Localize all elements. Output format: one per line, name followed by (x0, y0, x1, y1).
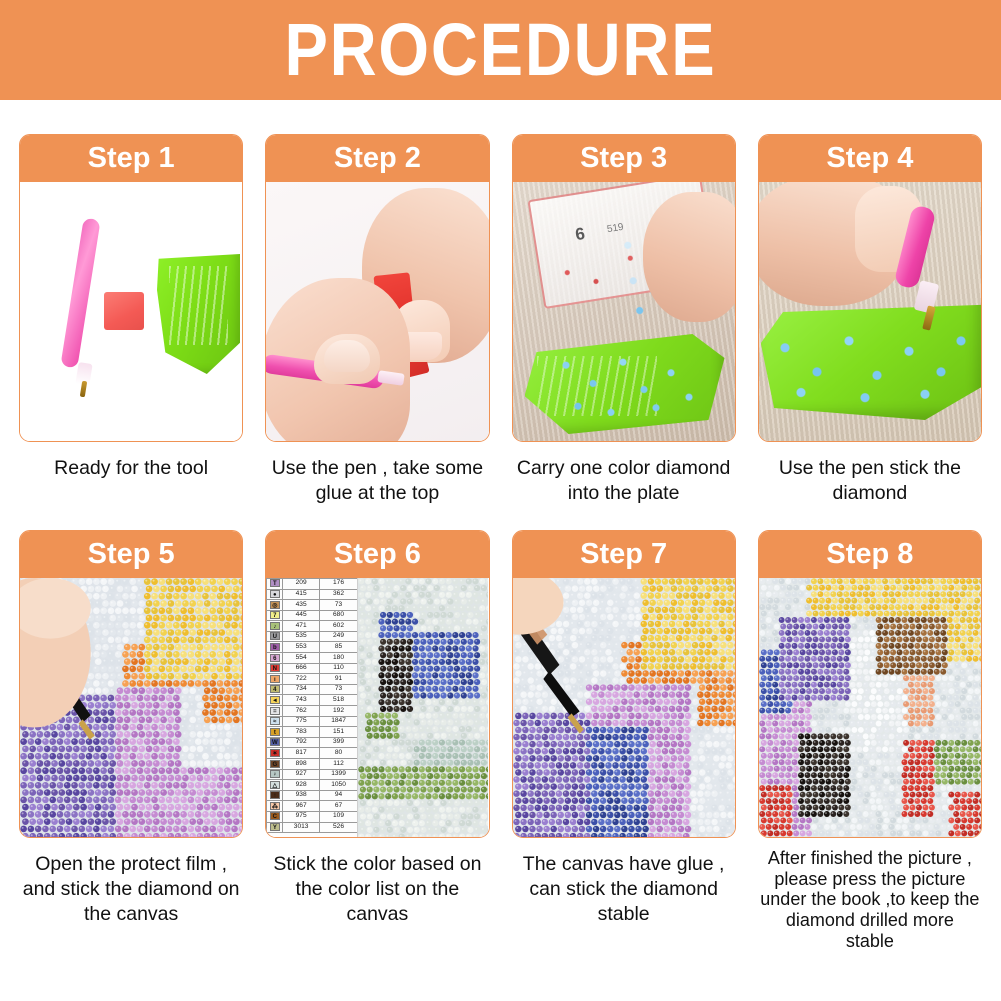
color-swatch: ✶ (270, 749, 280, 757)
dmc-code-cell: 415 (283, 589, 319, 600)
hands-glue-photo (266, 182, 488, 441)
quantity-cell: 399 (319, 737, 357, 748)
table-row: Y3013526 (267, 822, 358, 833)
step-card-8: Step 8 After finished the picture , plea… (758, 530, 982, 951)
dmc-code-cell: 554 (283, 653, 319, 664)
canvas-mosaic-7 (513, 578, 735, 837)
color-swatch: 7 (270, 611, 280, 619)
symbol-cell: ♀ (267, 769, 283, 780)
step-1-card: Step 1 (19, 134, 243, 442)
step-card-4: Step 4 Use the pen stick the diamond (758, 134, 982, 506)
steps-row-top: Step 1 Ready for the tool Step 2 (0, 100, 1001, 506)
dmc-code-cell: 927 (283, 769, 319, 780)
step-5-caption: Open the protect film , and stick the di… (19, 852, 243, 927)
pen-tip-icon (80, 381, 87, 398)
step-7-header: Step 7 (513, 531, 735, 578)
color-swatch: ♀ (270, 770, 280, 778)
step-1-image (20, 182, 242, 441)
quantity-cell: 112 (319, 759, 357, 770)
bag-number-label: 6 (573, 224, 585, 245)
dmc-code-cell: 535 (283, 631, 319, 642)
symbol-cell: G (267, 759, 283, 770)
page-header-banner: PROCEDURE (0, 0, 1001, 100)
color-swatch: T (270, 579, 280, 587)
dmc-code-cell: 445 (283, 610, 319, 621)
step-6-caption: Stick the color based on the color list … (265, 852, 489, 927)
color-swatch: C (270, 812, 280, 820)
step-5-card: Step 5 (19, 530, 243, 838)
symbol-cell: ● (267, 589, 283, 600)
step-4-image (759, 182, 981, 441)
step-5-badge: Step 5 (88, 540, 175, 569)
quantity-cell: 526 (319, 822, 357, 833)
dmc-code-cell: 928 (283, 780, 319, 791)
step-card-2: Step 2 Use the pen , take some glue at t… (265, 134, 489, 506)
symbol-cell: 4 (267, 684, 283, 695)
quantity-cell: 518 (319, 695, 357, 706)
step-4-card: Step 4 (758, 134, 982, 442)
quantity-cell: 192 (319, 706, 357, 717)
symbol-cell: ◄ (267, 695, 283, 706)
quantity-cell: 109 (319, 811, 357, 822)
dmc-code-cell: 792 (283, 737, 319, 748)
table-row: t783151 (267, 727, 358, 738)
pink-pen-icon (60, 218, 100, 369)
step-8-image (759, 578, 981, 837)
steps-row-bottom: Step 5 (0, 506, 1001, 951)
table-row: G898112 (267, 759, 358, 770)
step-7-badge: Step 7 (580, 540, 667, 569)
dmc-code-cell: 775 (283, 716, 319, 727)
step-6-badge: Step 6 (334, 540, 421, 569)
tools-illustration (20, 182, 242, 441)
dmc-code-cell: 975 (283, 811, 319, 822)
color-swatch: ◎ (270, 601, 280, 609)
table-row: 7445680 (267, 610, 358, 621)
table-row: ↑93894 (267, 790, 358, 801)
symbol-cell: ◎ (267, 600, 283, 611)
quantity-cell: 1847 (319, 716, 357, 727)
step-card-1: Step 1 Ready for the tool (19, 134, 243, 506)
symbol-cell: U (267, 631, 283, 642)
blue-diamonds-icon (551, 350, 701, 426)
table-row: ●415362 (267, 589, 358, 600)
step-8-card: Step 8 (758, 530, 982, 838)
step-6-image: T209176●415362◎435737445680♪471602U53524… (266, 578, 488, 837)
symbol-cell: 7 (267, 610, 283, 621)
symbol-cell: b (267, 642, 283, 653)
dmc-code-cell: 553 (283, 642, 319, 653)
quantity-cell: 110 (319, 663, 357, 674)
page-title: PROCEDURE (285, 13, 717, 87)
color-swatch: 4 (270, 685, 280, 693)
step-2-image (266, 182, 488, 441)
color-swatch: G (270, 760, 280, 768)
quantity-cell: 73 (319, 684, 357, 695)
dmc-code-cell: 743 (283, 695, 319, 706)
table-row: b55385 (267, 642, 358, 653)
table-row: ✶81780 (267, 748, 358, 759)
quantity-cell: 151 (319, 727, 357, 738)
quantity-cell: 73 (319, 600, 357, 611)
quantity-cell: 680 (319, 610, 357, 621)
step-8-caption: After finished the picture , please pres… (758, 848, 982, 951)
step-card-3: Step 3 6 519 Carry one color diamond int… (512, 134, 736, 506)
step-3-header: Step 3 (513, 135, 735, 182)
symbol-cell: ≈ (267, 716, 283, 727)
color-swatch: t (270, 728, 280, 736)
symbol-cell: N (267, 663, 283, 674)
color-swatch: 6 (270, 654, 280, 662)
color-swatch: Y (270, 823, 280, 831)
color-swatch: ● (270, 590, 280, 598)
step-8-header: Step 8 (759, 531, 981, 578)
dmc-code-cell: 435 (283, 600, 319, 611)
bag-code-label: 519 (606, 222, 624, 235)
step-3-caption: Carry one color diamond into the plate (512, 456, 736, 506)
dmc-code-cell: 666 (283, 663, 319, 674)
pour-diamonds-photo: 6 519 (513, 182, 735, 441)
quantity-cell: 94 (319, 790, 357, 801)
dmc-code-cell: 471 (283, 621, 319, 632)
step-7-image (513, 578, 735, 837)
canvas-mosaic-6 (358, 578, 488, 837)
symbol-cell: Y (267, 822, 283, 833)
color-swatch: ◄ (270, 696, 280, 704)
step-5-image (20, 578, 242, 837)
table-row: W792399 (267, 737, 358, 748)
step-4-caption: Use the pen stick the diamond (758, 456, 982, 506)
color-swatch: U (270, 632, 280, 640)
table-row: U535249 (267, 631, 358, 642)
step-2-badge: Step 2 (334, 144, 421, 173)
color-swatch: ♪ (270, 622, 280, 630)
table-row: △9281050 (267, 780, 358, 791)
symbol-cell: ♪ (267, 621, 283, 632)
quantity-cell: 176 (319, 578, 357, 589)
step-7-card: Step 7 (512, 530, 736, 838)
pick-diamond-photo (759, 182, 981, 441)
quantity-cell: 80 (319, 748, 357, 759)
dmc-code-cell: 734 (283, 684, 319, 695)
symbol-cell: △ (267, 780, 283, 791)
symbol-cell: C (267, 811, 283, 822)
symbol-cell: = (267, 706, 283, 717)
color-swatch: ↑ (270, 791, 280, 799)
dmc-code-cell: 3013 (283, 822, 319, 833)
step-4-header: Step 4 (759, 135, 981, 182)
color-swatch: ≈ (270, 717, 280, 725)
symbol-cell: ✶ (267, 748, 283, 759)
dmc-code-cell: 817 (283, 748, 319, 759)
color-swatch: △ (270, 781, 280, 789)
green-tray-icon (157, 254, 240, 374)
table-row: ◄743518 (267, 695, 358, 706)
thumbnail-icon (324, 340, 370, 372)
hand-icon (643, 192, 735, 322)
color-swatch: ı (270, 675, 280, 683)
table-row: ≈7751847 (267, 716, 358, 727)
color-swatch: N (270, 664, 280, 672)
symbol-cell: ı (267, 674, 283, 685)
step-2-header: Step 2 (266, 135, 488, 182)
step-5-header: Step 5 (20, 531, 242, 578)
blue-diamonds-icon (773, 322, 973, 408)
table-row: ı72291 (267, 674, 358, 685)
step-6-card: Step 6 T209176●415362◎435737445680♪47160… (265, 530, 489, 838)
table-row: ♪471602 (267, 621, 358, 632)
color-list-chart: T209176●415362◎435737445680♪471602U53524… (266, 578, 358, 837)
canvas-mosaic-5 (20, 578, 242, 837)
quantity-cell: 249 (319, 631, 357, 642)
dmc-code-cell: 722 (283, 674, 319, 685)
quantity-cell: 1050 (319, 780, 357, 791)
quantity-cell: 85 (319, 642, 357, 653)
step-1-caption: Ready for the tool (19, 456, 243, 481)
dmc-code-cell: 209 (283, 578, 319, 589)
quantity-cell: 602 (319, 621, 357, 632)
color-swatch: W (270, 738, 280, 746)
quantity-cell: 91 (319, 674, 357, 685)
step-1-badge: Step 1 (88, 144, 175, 173)
symbol-cell: ↑ (267, 790, 283, 801)
step-2-caption: Use the pen , take some glue at the top (265, 456, 489, 506)
step-3-badge: Step 3 (580, 144, 667, 173)
dmc-code-cell: 938 (283, 790, 319, 801)
color-swatch: ⁂ (270, 802, 280, 810)
table-row: T209176 (267, 578, 358, 589)
dmc-code-cell: 762 (283, 706, 319, 717)
step-7-caption: The canvas have glue , can stick the dia… (512, 852, 736, 927)
step-6-header: Step 6 (266, 531, 488, 578)
table-row: ◎43573 (267, 600, 358, 611)
table-row: N666110 (267, 663, 358, 674)
canvas-area-6 (358, 578, 488, 837)
dmc-code-cell: 967 (283, 801, 319, 812)
table-row: =762192 (267, 706, 358, 717)
symbol-cell: 6 (267, 653, 283, 664)
symbol-cell: t (267, 727, 283, 738)
quantity-cell: 362 (319, 589, 357, 600)
step-card-7: Step 7 The canvas have glue , can stick … (512, 530, 736, 951)
table-row: 6554180 (267, 653, 358, 664)
table-row: ⁂96767 (267, 801, 358, 812)
symbol-cell: ⁂ (267, 801, 283, 812)
quantity-cell: 67 (319, 801, 357, 812)
color-swatch: = (270, 707, 280, 715)
canvas-mosaic-8 (759, 578, 981, 837)
table-row: 473473 (267, 684, 358, 695)
step-3-card: Step 3 6 519 (512, 134, 736, 442)
step-4-badge: Step 4 (826, 144, 913, 173)
step-1-header: Step 1 (20, 135, 242, 182)
table-row: C975109 (267, 811, 358, 822)
symbol-cell: T (267, 578, 283, 589)
step-3-image: 6 519 (513, 182, 735, 441)
step-card-6: Step 6 T209176●415362◎435737445680♪47160… (265, 530, 489, 951)
dmc-color-table: T209176●415362◎435737445680♪471602U53524… (266, 578, 358, 833)
table-row: ♀9271399 (267, 769, 358, 780)
dmc-code-cell: 783 (283, 727, 319, 738)
step-2-card: Step 2 (265, 134, 489, 442)
symbol-cell: W (267, 737, 283, 748)
quantity-cell: 180 (319, 653, 357, 664)
dmc-code-cell: 898 (283, 759, 319, 770)
glue-block-icon (104, 292, 144, 330)
step-card-5: Step 5 (19, 530, 243, 951)
step-8-badge: Step 8 (826, 540, 913, 569)
color-swatch: b (270, 643, 280, 651)
quantity-cell: 1399 (319, 769, 357, 780)
